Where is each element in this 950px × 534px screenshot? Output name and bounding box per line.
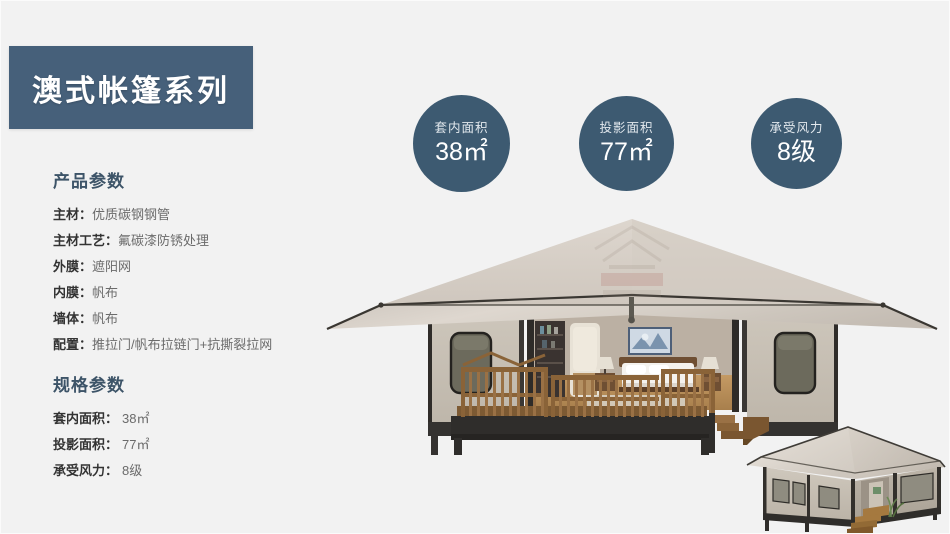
spec-label: 投影面积： (53, 437, 118, 452)
title-banner: 澳式帐篷系列 (9, 46, 253, 129)
spec-value: 氟碳漆防锈处理 (118, 233, 209, 248)
stat-circle-interior-area: 套内面积 38㎡ (413, 95, 510, 192)
spec-label: 承受风力： (53, 463, 118, 478)
spec-row: 内膜：帆布 (53, 280, 272, 306)
spec-row: 配置：推拉门/帆布拉链门+抗撕裂拉网 (53, 332, 272, 358)
spec-label: 主材： (53, 207, 92, 222)
stat-value: 8级 (777, 140, 816, 165)
spec-label: 外膜： (53, 259, 92, 274)
spec-row: 主材：优质碳钢钢管 (53, 202, 272, 228)
stat-caption: 套内面积 (434, 122, 488, 135)
size-parameters-heading: 规格参数 (53, 371, 149, 396)
spec-value: 帆布 (92, 285, 118, 300)
spec-label: 内膜： (53, 285, 92, 300)
spec-value: 优质碳钢钢管 (92, 207, 170, 222)
product-parameters-heading: 产品参数 (53, 167, 272, 192)
main-deck-corner-overlap (743, 417, 769, 445)
spec-value: 推拉门/帆布拉链门+抗撕裂拉网 (92, 337, 272, 352)
stat-caption: 投影面积 (599, 122, 653, 135)
product-spec-page: 澳式帐篷系列 产品参数 主材：优质碳钢钢管 主材工艺：氟碳漆防锈处理 外膜：遮阳… (0, 0, 950, 534)
stat-circle-wind-resistance: 承受风力 8级 (751, 98, 842, 189)
spec-label: 墙体： (53, 311, 92, 326)
spec-value: 8级 (118, 463, 142, 478)
spec-label: 配置： (53, 337, 92, 352)
inset-tent-image (743, 417, 949, 534)
spec-row: 承受风力：8级 (53, 458, 149, 484)
spec-value: 38㎡ (118, 411, 149, 426)
product-parameters-section: 产品参数 主材：优质碳钢钢管 主材工艺：氟碳漆防锈处理 外膜：遮阳网 内膜：帆布… (53, 167, 272, 358)
spec-row: 墙体：帆布 (53, 306, 272, 332)
spec-row: 主材工艺：氟碳漆防锈处理 (53, 228, 272, 254)
spec-value: 77㎡ (118, 437, 149, 452)
spec-label: 主材工艺： (53, 233, 118, 248)
stat-value: 38㎡ (435, 140, 488, 165)
spec-value: 帆布 (92, 311, 118, 326)
spec-label: 套内面积： (53, 411, 118, 426)
page-title: 澳式帐篷系列 (32, 66, 230, 110)
spec-row: 套内面积：38㎡ (53, 406, 149, 432)
stat-circle-projected-area: 投影面积 77㎡ (579, 96, 674, 191)
spec-row: 投影面积：77㎡ (53, 432, 149, 458)
stat-value: 77㎡ (600, 140, 653, 165)
stat-caption: 承受风力 (769, 122, 823, 135)
size-parameters-section: 规格参数 套内面积：38㎡ 投影面积：77㎡ 承受风力：8级 (53, 371, 149, 484)
spec-row: 外膜：遮阳网 (53, 254, 272, 280)
spec-value: 遮阳网 (92, 259, 131, 274)
